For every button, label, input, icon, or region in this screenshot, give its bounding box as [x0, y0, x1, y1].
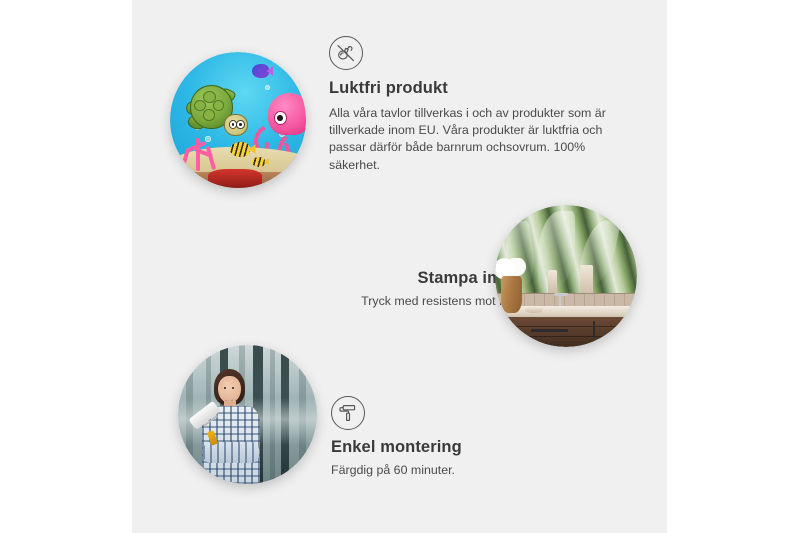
cabinet-handle: [593, 321, 596, 338]
seabed-red-object: [208, 169, 262, 188]
bathroom-bottle: [548, 270, 558, 294]
yellow-striped-fish-small: [252, 157, 266, 167]
feature-body: Alla våra tavlor tillverkas i och av pro…: [329, 105, 629, 174]
no-fragrance-spray-bottle-icon: [329, 36, 363, 70]
feature-body: Färgdig på 60 minuter.: [331, 462, 581, 479]
person-face: [218, 376, 240, 404]
feature-title: Enkel montering: [331, 438, 581, 457]
drawer-handle: [531, 329, 567, 332]
blue-fish: [252, 64, 274, 78]
page-canvas: Luktfri produkt Alla våra tavlor tillver…: [0, 0, 800, 533]
photo-woman-with-paint-roller: [178, 345, 317, 484]
photo-bathroom-tropical-wallpaper: [495, 205, 637, 347]
feature-odorless: Luktfri produkt Alla våra tavlor tillver…: [329, 36, 629, 174]
pink-coral: [178, 131, 222, 172]
bathroom-bottle: [580, 265, 593, 296]
bubble-icon: [265, 85, 270, 90]
wood-vanity: [506, 317, 637, 347]
photo-underwater-kids-scene: [170, 52, 306, 188]
paint-roller-icon: [331, 396, 365, 430]
feature-title: Luktfri produkt: [329, 79, 629, 98]
content-panel: Luktfri produkt Alla våra tavlor tillver…: [132, 0, 667, 533]
yellow-striped-fish: [230, 142, 250, 157]
soap-dish: [525, 307, 543, 313]
feature-assembly: Enkel montering Färgdig på 60 minuter.: [331, 396, 581, 479]
gold-vase: [501, 276, 522, 313]
